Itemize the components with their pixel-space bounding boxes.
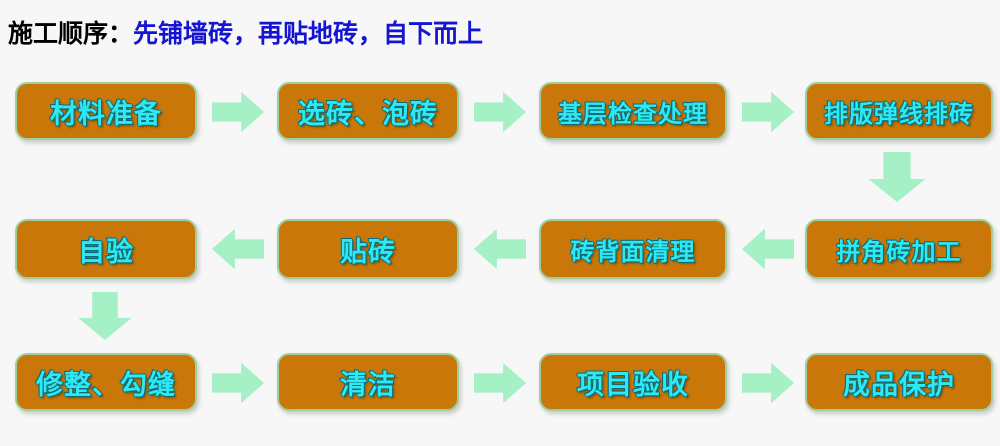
process-node-label: 项目验收: [577, 363, 689, 402]
arrow-right-icon: [742, 90, 794, 134]
arrow-down-icon: [866, 152, 928, 202]
process-node-label: 清洁: [340, 363, 396, 402]
process-node-cleaning[interactable]: 清洁: [277, 353, 459, 411]
process-node-label: 拼角砖加工: [837, 232, 962, 267]
arrow-left-icon: [212, 227, 264, 271]
process-node-corner-tile-fabrication[interactable]: 拼角砖加工: [805, 219, 993, 279]
process-node-label: 砖背面清理: [571, 232, 696, 267]
page-title: 施工顺序 ： 先铺墙砖，再贴地砖，自下而上: [8, 14, 483, 50]
arrow-left-icon: [474, 227, 526, 271]
process-node-self-inspection[interactable]: 自验: [15, 219, 197, 279]
process-node-label: 修整、勾缝: [36, 363, 176, 402]
process-node-tiling[interactable]: 贴砖: [277, 219, 459, 279]
process-node-label: 自验: [78, 230, 134, 269]
process-node-repair-grouting[interactable]: 修整、勾缝: [15, 353, 197, 411]
process-node-tile-selection-soaking[interactable]: 选砖、泡砖: [277, 82, 459, 140]
process-node-material-preparation[interactable]: 材料准备: [15, 82, 197, 140]
process-node-layout-snapline[interactable]: 排版弹线排砖: [805, 82, 993, 140]
process-node-label: 材料准备: [50, 92, 162, 131]
process-node-label: 排版弹线排砖: [824, 94, 974, 129]
arrow-right-icon: [474, 361, 526, 405]
process-node-label: 成品保护: [843, 363, 955, 402]
construction-sequence-flowchart: 施工顺序 ： 先铺墙砖，再贴地砖，自下而上 材料准备 选砖、泡砖 基层检查处理 …: [0, 0, 1000, 446]
arrow-right-icon: [742, 361, 794, 405]
arrow-right-icon: [212, 90, 264, 134]
page-title-label: 施工顺序: [8, 14, 108, 50]
arrow-down-icon: [76, 292, 134, 340]
process-node-finished-product-protection[interactable]: 成品保护: [805, 353, 993, 411]
arrow-right-icon: [212, 361, 264, 405]
arrow-right-icon: [474, 90, 526, 134]
process-node-project-acceptance[interactable]: 项目验收: [539, 353, 727, 411]
page-title-colon: ：: [108, 14, 133, 50]
arrow-left-icon: [742, 227, 794, 271]
process-node-tile-back-cleaning[interactable]: 砖背面清理: [539, 219, 727, 279]
process-node-label: 选砖、泡砖: [298, 92, 438, 131]
process-node-substrate-inspection[interactable]: 基层检查处理: [539, 82, 727, 140]
process-node-label: 基层检查处理: [558, 94, 708, 129]
process-node-label: 贴砖: [340, 230, 396, 269]
page-title-highlight: 先铺墙砖，再贴地砖，自下而上: [133, 14, 483, 50]
